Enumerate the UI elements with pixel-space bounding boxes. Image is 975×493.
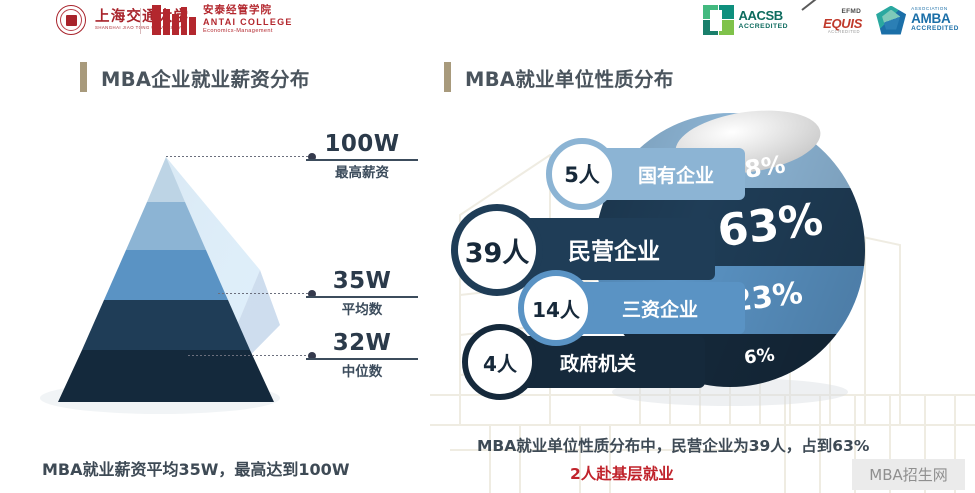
label-text-zhengfu: 政府机关: [560, 349, 636, 376]
pyramid-band-4: [82, 300, 250, 350]
leader-line-average-salary: [218, 293, 316, 294]
aacsb-wordmark: AACSB ACCREDITED: [739, 9, 789, 30]
antai-name-cn: 安泰经管学院: [203, 5, 293, 16]
average-salary-label: 平均数: [306, 303, 418, 317]
antai-name-en: ANTAI COLLEGE: [203, 18, 293, 27]
median-salary-value: 32W: [306, 331, 418, 355]
annotation-rule: [306, 358, 418, 360]
sjtu-seal-icon: [56, 5, 86, 35]
count-bubble-zhengfu[interactable]: 4人: [462, 324, 538, 400]
left-panel-title: MBA企业就业薪资分布: [80, 62, 310, 92]
aacsb-accreditation: AACSB ACCREDITED: [703, 5, 789, 35]
amba-name: AMBA: [911, 12, 959, 26]
site-watermark: MBA招生网: [852, 459, 965, 490]
label-text-guoyou: 国有企业: [638, 161, 714, 188]
left-panel-caption: MBA就业薪资平均35W，最高达到100W: [42, 456, 349, 480]
amba-icon: [876, 6, 906, 35]
leader-line-median-salary: [188, 355, 316, 356]
antai-acem-icon: [152, 5, 196, 35]
aacsb-status: ACCREDITED: [739, 24, 789, 31]
sphere-percent-zhengfu: 6%: [743, 344, 776, 368]
salary-pyramid-chart: 100W 最高薪资 35W 平均数 32W 中位数: [30, 110, 430, 440]
amba-wordmark: ASSOCIATION AMBA ACCREDITED: [911, 7, 959, 33]
accreditation-logos: AACSB ACCREDITED EFMD EQUIS ACCREDITED A…: [703, 5, 959, 35]
right-panel-caption-line2: 2人赴基层就业: [570, 462, 674, 484]
count-bubble-guoyou[interactable]: 5人: [546, 138, 618, 210]
antai-wordmark: 安泰经管学院 ANTAI COLLEGE Economics-Managemen…: [203, 5, 293, 34]
max-salary-value: 100W: [306, 132, 418, 156]
right-panel-caption-line1: MBA就业单位性质分布中，民营企业为39人，占到63%: [477, 434, 869, 456]
right-panel-title: MBA就业单位性质分布: [444, 62, 674, 92]
left-panel-title-text: MBA企业就业薪资分布: [101, 63, 310, 92]
title-accent-bar: [80, 62, 87, 92]
antai-college-logo: 安泰经管学院 ANTAI COLLEGE Economics-Managemen…: [152, 5, 293, 35]
label-text-minying: 民营企业: [568, 232, 660, 266]
pyramid-band-5: [58, 350, 274, 402]
efmd-name: EFMD: [841, 8, 861, 15]
antai-tagline: Economics-Management: [203, 29, 293, 35]
aacsb-icon: [703, 5, 734, 35]
median-salary-label: 中位数: [306, 365, 418, 379]
right-panel-title-text: MBA就业单位性质分布: [465, 63, 674, 92]
aacsb-name: AACSB: [739, 9, 789, 22]
average-salary-value: 35W: [306, 269, 418, 293]
page-header: 上海交通大学 SHANGHAI JIAO TONG UNIVERSITY 安泰经…: [0, 0, 975, 46]
title-accent-bar: [444, 62, 451, 92]
employer-type-sphere-chart: 8% 63% 23% 6% 国有企业 5人 民营企业 39人 三资企业 14人 …: [430, 100, 975, 420]
annotation-rule: [306, 159, 418, 161]
label-text-sanzi: 三资企业: [622, 295, 698, 322]
equis-slash-mark: [801, 0, 820, 11]
annotation-rule: [306, 296, 418, 298]
sphere-percent-guoyou: 8%: [743, 150, 787, 183]
average-salary-annotation: 35W 平均数: [306, 269, 418, 317]
median-salary-annotation: 32W 中位数: [306, 331, 418, 379]
count-bubble-sanzi[interactable]: 14人: [518, 270, 594, 346]
equis-icon: EFMD EQUIS ACCREDITED: [801, 5, 863, 35]
leader-dash: [188, 355, 308, 356]
max-salary-label: 最高薪资: [306, 166, 418, 180]
equis-status: ACCREDITED: [828, 29, 860, 34]
leader-dash: [218, 293, 308, 294]
leader-dash: [166, 156, 308, 157]
amba-status: ACCREDITED: [911, 26, 959, 32]
amba-accreditation: ASSOCIATION AMBA ACCREDITED: [876, 6, 959, 35]
max-salary-annotation: 100W 最高薪资: [306, 132, 418, 180]
leader-line-max-salary: [166, 156, 316, 157]
logo-divider: [140, 8, 141, 34]
